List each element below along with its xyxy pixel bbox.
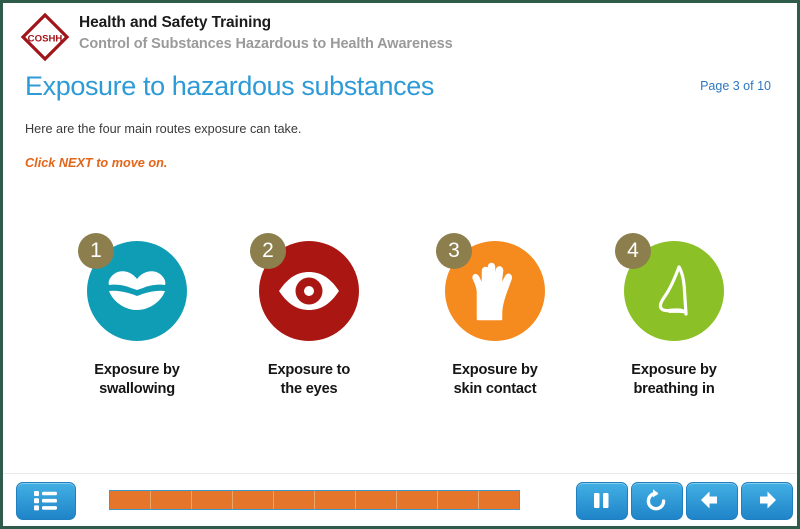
route-label-line1: Exposure to xyxy=(268,362,350,378)
intro-text: Here are the four main routes exposure c… xyxy=(25,122,301,136)
route-number-badge: 1 xyxy=(78,233,114,269)
page-title: Exposure to hazardous substances xyxy=(25,71,434,102)
coshh-logo-text: COSHH xyxy=(28,33,63,44)
route-number-badge: 2 xyxy=(250,233,286,269)
pause-button[interactable] xyxy=(576,482,628,520)
route-number-badge: 4 xyxy=(615,233,651,269)
route-label-line1: Exposure by xyxy=(452,362,537,378)
cta-text: Click NEXT to move on. xyxy=(25,156,167,170)
route-label-line1: Exposure by xyxy=(631,362,716,378)
route-label-line2: breathing in xyxy=(586,380,762,399)
route-icon-wrap: 3 xyxy=(445,241,545,341)
progress-segment xyxy=(151,491,192,509)
course-slide: COSHH Health and Safety Training Control… xyxy=(0,0,800,529)
replay-icon xyxy=(632,483,680,517)
route-item-skin: 3 Exposure by skin contact xyxy=(407,241,583,399)
route-label: Exposure to the eyes xyxy=(221,361,397,399)
next-button[interactable] xyxy=(741,482,793,520)
exposure-routes: 1 Exposure by swallowing 2 xyxy=(3,241,797,411)
route-label-line2: swallowing xyxy=(49,380,225,399)
route-label: Exposure by swallowing xyxy=(49,361,225,399)
replay-button[interactable] xyxy=(631,482,683,520)
route-label-line1: Exposure by xyxy=(94,362,179,378)
page-counter: Page 3 of 10 xyxy=(700,79,771,93)
route-icon-wrap: 4 xyxy=(624,241,724,341)
arrow-left-icon xyxy=(687,483,735,517)
route-icon-wrap: 2 xyxy=(259,241,359,341)
player-toolbar xyxy=(3,473,797,526)
route-item-breathing: 4 Exposure by breathing in xyxy=(586,241,762,399)
course-title: Health and Safety Training xyxy=(79,13,453,33)
arrow-right-icon xyxy=(742,483,790,517)
progress-segment xyxy=(315,491,356,509)
route-label: Exposure by skin contact xyxy=(407,361,583,399)
progress-segment xyxy=(110,491,151,509)
pause-icon xyxy=(577,483,625,517)
course-subtitle: Control of Substances Hazardous to Healt… xyxy=(79,34,453,54)
route-icon-wrap: 1 xyxy=(87,241,187,341)
progress-segment xyxy=(438,491,479,509)
back-button[interactable] xyxy=(686,482,738,520)
route-number-badge: 3 xyxy=(436,233,472,269)
route-item-eyes: 2 Exposure to the eyes xyxy=(221,241,397,399)
progress-segment xyxy=(479,491,519,509)
header-titles: Health and Safety Training Control of Su… xyxy=(79,13,453,54)
route-label-line2: skin contact xyxy=(407,380,583,399)
list-icon xyxy=(17,483,73,517)
progress-segment xyxy=(233,491,274,509)
progress-segment xyxy=(397,491,438,509)
coshh-logo: COSHH xyxy=(20,12,70,62)
progress-bar[interactable] xyxy=(109,490,520,510)
slide-header: COSHH Health and Safety Training Control… xyxy=(3,3,797,65)
progress-segment xyxy=(356,491,397,509)
menu-button[interactable] xyxy=(16,482,76,520)
progress-segment xyxy=(274,491,315,509)
progress-segment xyxy=(192,491,233,509)
route-item-swallowing: 1 Exposure by swallowing xyxy=(49,241,225,399)
route-label-line2: the eyes xyxy=(221,380,397,399)
route-label: Exposure by breathing in xyxy=(586,361,762,399)
